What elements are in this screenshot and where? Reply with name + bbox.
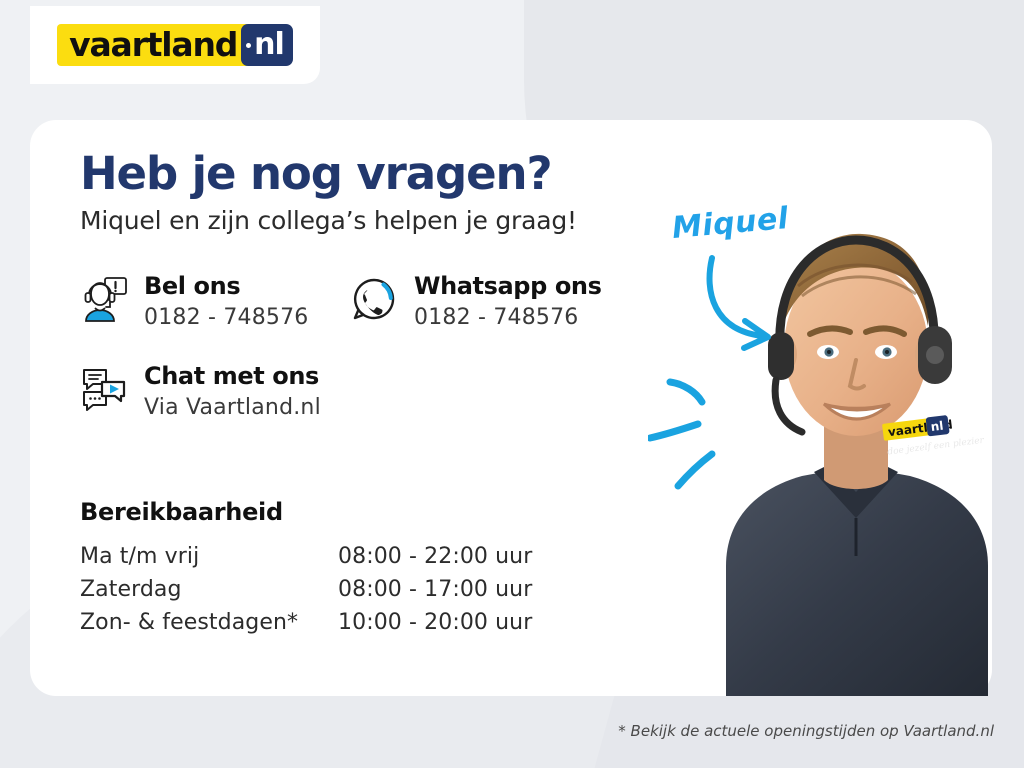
hours-day: Zon- & feestdagen* <box>80 606 338 639</box>
logo-lockup: vaartland nl <box>57 24 293 66</box>
page-title: Heb je nog vragen? <box>80 150 680 197</box>
contact-whatsapp-text: Whatsapp ons 0182 - 748576 <box>414 273 601 330</box>
hours-day: Zaterdag <box>80 573 338 606</box>
hours-time: 08:00 - 17:00 uur <box>338 573 532 606</box>
contact-chat-text: Chat met ons Via Vaartland.nl <box>144 363 321 420</box>
table-row: Ma t/m vrij 08:00 - 22:00 uur <box>80 540 532 573</box>
contact-call-value[interactable]: 0182 - 748576 <box>144 305 309 330</box>
page-subtitle: Miquel en zijn collega’s helpen je graag… <box>80 206 680 235</box>
logo-tld-text: nl <box>254 24 284 66</box>
hours-day: Ma t/m vrij <box>80 540 338 573</box>
shirt-tagline: doe jezelf een plezier <box>887 436 985 458</box>
curved-arrow-icon <box>700 252 810 357</box>
footer-note: * Bekijk de actuele openingstijden op Va… <box>618 722 994 740</box>
hours-time: 08:00 - 22:00 uur <box>338 540 532 573</box>
brand-logo[interactable]: vaartland nl <box>30 6 320 84</box>
contact-whatsapp-value[interactable]: 0182 - 748576 <box>414 305 601 330</box>
opening-hours-title: Bereikbaarheid <box>80 498 600 526</box>
promo-banner: vaartland nl Heb je nog vragen? Miquel e… <box>0 0 1024 768</box>
logo-tld-badge: nl <box>241 24 293 66</box>
table-row: Zaterdag 08:00 - 17:00 uur <box>80 573 532 606</box>
logo-dot-icon <box>246 43 251 48</box>
headset-person-icon <box>80 275 128 323</box>
chat-bubbles-icon <box>80 365 128 413</box>
opening-hours-table: Ma t/m vrij 08:00 - 22:00 uur Zaterdag 0… <box>80 540 532 639</box>
contact-call-title: Bel ons <box>144 272 240 300</box>
opening-hours: Bereikbaarheid Ma t/m vrij 08:00 - 22:00… <box>80 498 600 639</box>
contact-chat-value[interactable]: Via Vaartland.nl <box>144 395 321 420</box>
contact-whatsapp-title: Whatsapp ons <box>414 272 601 300</box>
shirt-logo-tld: nl <box>930 419 944 434</box>
logo-wordmark: vaartland <box>57 24 247 66</box>
table-row: Zon- & feestdagen* 10:00 - 20:00 uur <box>80 606 532 639</box>
contact-row-whatsapp[interactable]: Whatsapp ons 0182 - 748576 <box>350 273 601 330</box>
hours-time: 10:00 - 20:00 uur <box>338 606 532 639</box>
contact-call-text: Bel ons 0182 - 748576 <box>144 273 309 330</box>
card-header: Heb je nog vragen? Miquel en zijn colleg… <box>80 150 680 273</box>
whatsapp-icon <box>350 275 398 323</box>
contact-row-chat[interactable]: Chat met ons Via Vaartland.nl <box>80 363 321 420</box>
contact-row-call[interactable]: Bel ons 0182 - 748576 <box>80 273 309 330</box>
spark-lines-icon <box>648 358 758 493</box>
contact-chat-title: Chat met ons <box>144 362 319 390</box>
